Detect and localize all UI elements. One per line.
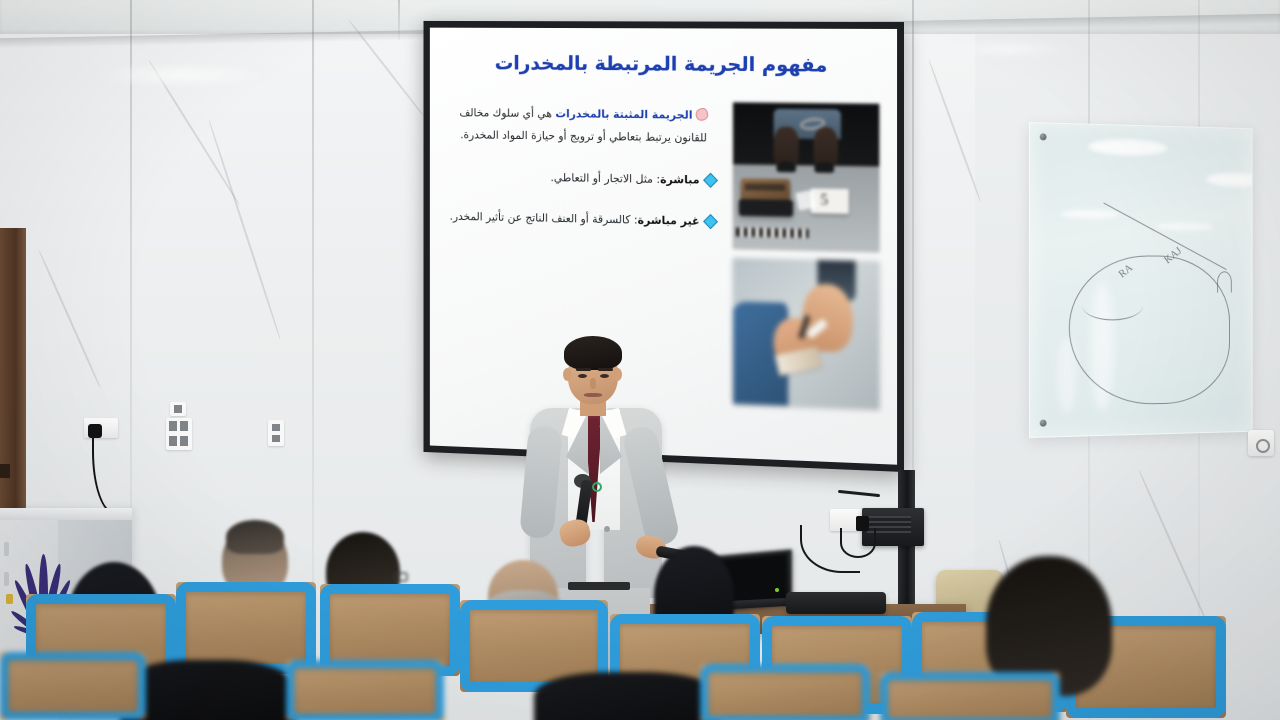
mouth [584,393,602,397]
diamond-bullet-icon [703,214,718,229]
whiteboard-bolt [1040,420,1047,427]
jacket-button [604,526,610,532]
switch-key [272,424,280,431]
podium-top [0,508,132,520]
slide-title: مفهوم الجريمة المرتبطة بالمخدرات [446,49,879,80]
badge-icon [592,482,602,492]
photo-scale-ruler [736,228,809,238]
hair [226,520,284,554]
wall-light-reflection [90,62,270,88]
laptop-bag [786,592,886,614]
eyebrow [576,368,591,371]
paragraph-highlight: الجريمة المثبتة بالمخدرات [555,107,692,122]
bullet-body: : مثل الاتجار أو التعاطي. [550,170,660,185]
evidence-marker-number: 5 [820,191,828,209]
slide-bullet: مباشرة: مثل الاتجار أو التعاطي. [446,167,721,191]
switch-key [180,436,188,446]
slide-paragraph: الجريمة المثبتة بالمخدرات هي أي سلوك مخا… [446,102,721,150]
wall-seam [398,0,400,40]
audience-member [534,672,724,720]
whiteboard-glare [1156,222,1213,230]
wall-light-reflection [950,40,1070,58]
bullet-label: مباشرة [660,172,699,186]
bullet-text: مباشرة: مثل الاتجار أو التعاطي. [550,168,699,190]
slide-image-column: 5 [733,102,879,409]
bullet-body: : كالسرقة أو العنف الناتج عن تأثير المخد… [450,209,638,226]
switch-key [169,421,177,431]
belt [568,582,630,590]
hand-to-hand-exchange-photo [733,258,879,409]
ear [563,368,572,381]
wall-seam [312,0,314,600]
podium-hinge [4,542,9,556]
door-inset [0,464,10,478]
auditorium-seat[interactable] [880,672,1060,720]
auditorium-seat[interactable] [700,664,870,720]
shoulders [534,672,720,720]
nose [590,378,596,389]
switch-key [180,421,188,431]
wall-socket[interactable] [1248,430,1274,456]
eyebrow [598,368,613,371]
handcuffs-evidence-photo: 5 [733,102,879,251]
whiteboard-scribble [1217,271,1232,292]
photo-shoe [777,161,796,172]
hair [564,336,622,370]
blob-bullet-icon [695,108,707,121]
light-switch-panel[interactable] [170,402,186,416]
whiteboard-bolt [1040,133,1047,140]
laptop-indicator-led [775,588,779,592]
ear [613,368,622,381]
whiteboard-glare [1088,138,1167,156]
auditorium-seat[interactable] [286,660,444,720]
seat-blue-frame [0,652,146,720]
switch-key [169,436,177,446]
podium-hinge [4,572,9,586]
photo-evidence-marker [810,188,848,214]
photo-evidence-bag [739,199,793,218]
photo-baggie [795,190,816,211]
slide-bullet: غير مباشرة: كالسرقة أو العنف الناتج عن ت… [446,207,721,232]
photo-shoe [814,162,833,173]
auditorium-seat[interactable] [0,652,146,720]
switch-key [272,435,280,442]
audience-member [120,660,300,720]
whiteboard-glare [1061,209,1118,219]
bullet-text: غير مباشرة: كالسرقة أو العنف الناتج عن ت… [450,207,700,231]
eyeglass-temple-icon [394,572,408,582]
photo-hand [803,283,853,352]
glass-whiteboard[interactable]: RA KAJ [1029,122,1253,438]
eye [600,374,609,378]
seat-blue-frame [286,660,444,720]
light-switch-panel[interactable] [268,420,284,446]
seat-blue-frame [880,672,1060,720]
bullet-label: غير مباشرة [638,212,700,227]
diamond-bullet-icon [703,173,718,188]
switch-key [174,405,182,413]
lecture-hall-scene: RA KAJ مفهوم الجريمة المرتبطة بالمخدرات [0,0,1280,720]
shoulders [120,660,296,720]
seat-blue-frame [700,664,870,720]
whiteboard-glare [1206,172,1252,187]
light-switch-panel[interactable] [166,418,192,450]
eye [578,374,587,378]
